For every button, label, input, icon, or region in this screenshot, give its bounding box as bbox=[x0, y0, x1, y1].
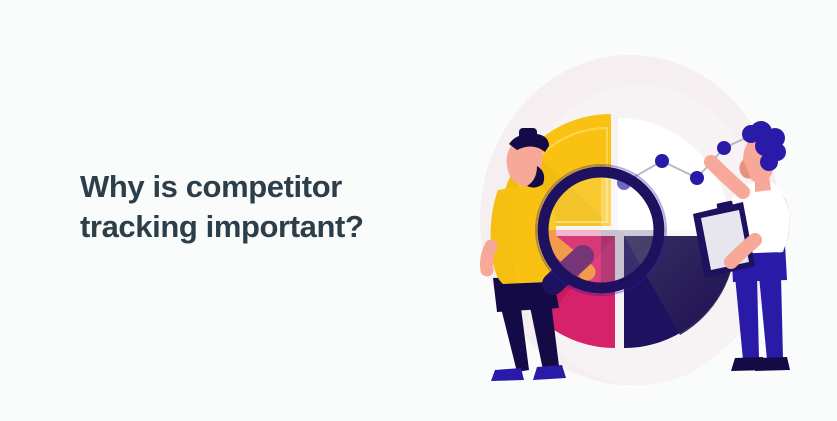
shoe-icon bbox=[755, 357, 790, 371]
line-graph-dot bbox=[717, 141, 731, 155]
headline-line-1: Why is competitor bbox=[80, 167, 440, 207]
headline-line-2: tracking important? bbox=[80, 207, 440, 247]
shoe-icon bbox=[533, 365, 566, 380]
banner: Why is competitor tracking important? bbox=[0, 0, 837, 421]
competitor-analysis-illustration bbox=[425, 40, 837, 400]
page-title: Why is competitor tracking important? bbox=[80, 167, 440, 247]
line-graph-dot bbox=[655, 154, 669, 168]
line-graph-dot bbox=[690, 171, 704, 185]
shoe-icon bbox=[491, 368, 524, 381]
